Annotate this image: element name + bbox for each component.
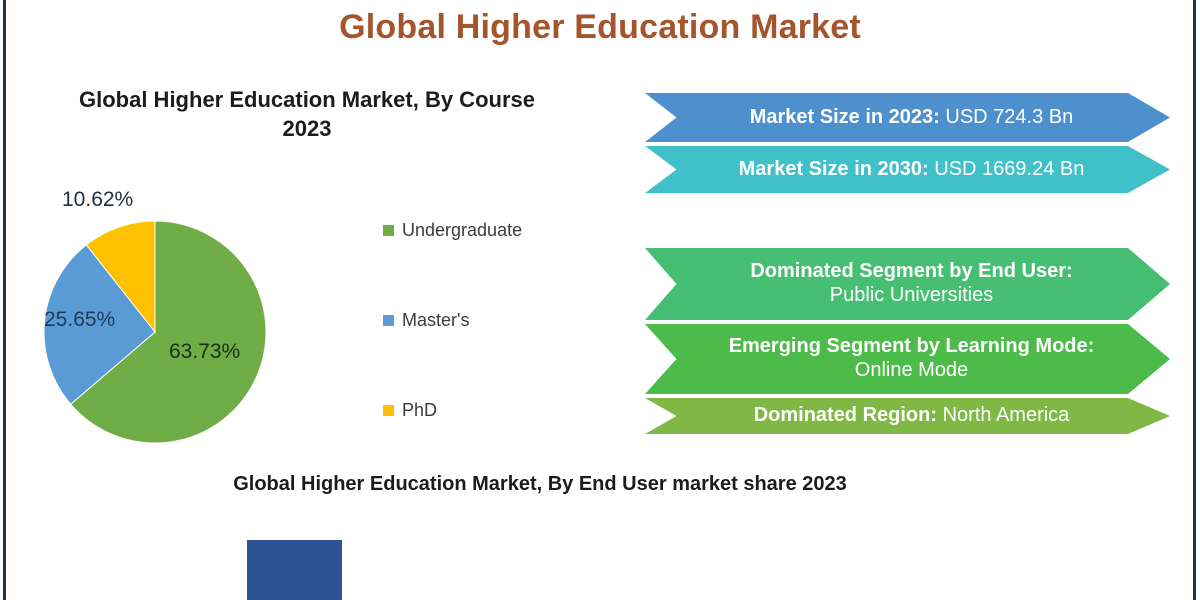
infographic-page: Global Higher Education Market Global Hi… <box>0 0 1200 600</box>
legend-label: Undergraduate <box>402 220 522 241</box>
banner-label: Market Size in 2030: <box>739 158 929 180</box>
banner-label: CAGR % (2024-2030): <box>779 209 982 231</box>
pie-chart-title: Global Higher Education Market, By Cours… <box>52 85 562 143</box>
banner-value: North America <box>937 404 1069 426</box>
pie-slice-label-phd: 10.62% <box>62 188 133 212</box>
bar-public-universities <box>247 540 342 600</box>
pie-chart-svg <box>43 220 267 444</box>
pie-slice-label-undergraduate: 63.73% <box>169 340 240 364</box>
banner-market-size-2030: Market Size in 2030: USD 1669.24 Bn <box>645 146 1170 193</box>
banner-content: CAGR % (2024-2030): 2.66% <box>779 209 1045 233</box>
banner-content: Dominated Segment by End User:Public Uni… <box>750 260 1072 307</box>
banner-value: Online Mode <box>729 359 1095 383</box>
pie-slice-label-masters: 25.65% <box>44 308 115 332</box>
banner-value: USD 724.3 Bn <box>940 106 1073 128</box>
banner-value: 2.66% <box>982 209 1044 231</box>
bottom-chart-title: Global Higher Education Market, By End U… <box>0 473 1080 496</box>
banner-content: Market Size in 2023: USD 724.3 Bn <box>750 106 1074 130</box>
bottom-bar-chart <box>150 512 1050 600</box>
banner-emerging-segment-learning-mode: Emerging Segment by Learning Mode:Online… <box>645 324 1170 394</box>
banner-label: Dominated Region: <box>754 404 937 426</box>
legend-swatch-icon <box>383 405 394 416</box>
banner-content: Market Size in 2030: USD 1669.24 Bn <box>739 158 1085 182</box>
banner-label: Emerging Segment by Learning Mode: <box>729 335 1095 359</box>
banner-value: USD 1669.24 Bn <box>929 158 1085 180</box>
banner-content: Dominated Region: North America <box>754 404 1070 428</box>
legend-item-phd: PhD <box>383 400 437 421</box>
banner-content: Emerging Segment by Learning Mode:Online… <box>729 335 1095 382</box>
banner-label: Market Size in 2023: <box>750 106 940 128</box>
legend-label: Master's <box>402 310 469 331</box>
banner-value: Public Universities <box>750 284 1072 308</box>
legend-item-masters: Master's <box>383 310 469 331</box>
legend-label: PhD <box>402 400 437 421</box>
key-highlights-banner-list: Market Size in 2023: USD 724.3 BnMarket … <box>645 93 1170 438</box>
legend-swatch-icon <box>383 225 394 236</box>
legend-swatch-icon <box>383 315 394 326</box>
banner-cagr: CAGR % (2024-2030): 2.66% <box>645 197 1170 244</box>
banner-market-size-2023: Market Size in 2023: USD 724.3 Bn <box>645 93 1170 142</box>
frame-rule-left <box>3 0 6 600</box>
banner-dominated-region: Dominated Region: North America <box>645 398 1170 434</box>
page-title: Global Higher Education Market <box>0 8 1200 47</box>
frame-rule-right <box>1193 0 1196 600</box>
banner-label: Dominated Segment by End User: <box>750 260 1072 284</box>
legend-item-undergraduate: Undergraduate <box>383 220 522 241</box>
banner-dominated-segment-end-user: Dominated Segment by End User:Public Uni… <box>645 248 1170 320</box>
pie-chart <box>43 220 267 444</box>
